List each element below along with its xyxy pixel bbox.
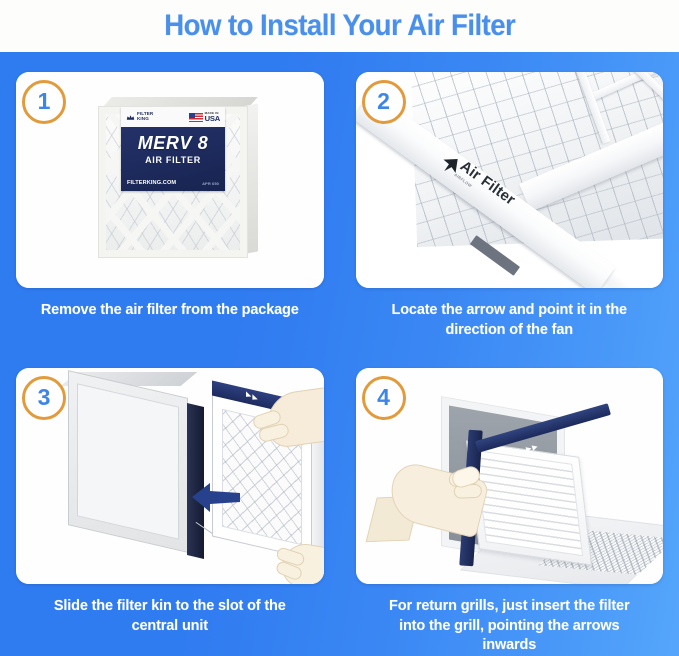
step-2: 2 Air (340, 52, 679, 348)
step-1-number: 1 (38, 90, 51, 113)
step-2-number-badge: 2 (362, 80, 406, 124)
step-4-image-card: 4 ▶▶ (356, 368, 664, 584)
brand-line-2: KING (137, 117, 153, 122)
made-in-usa-mark: MADE IN USA (189, 112, 220, 123)
product-label-header: FILTER KING (121, 107, 225, 127)
steps-grid: 1 (0, 52, 679, 656)
step-3-caption: Slide the filter kin to the slot of the … (35, 597, 305, 636)
unit-panel-inset (77, 384, 179, 541)
crown-icon (126, 113, 135, 122)
step-1-caption: Remove the air filter from the package (35, 301, 305, 321)
filter-body: FILTER KING (98, 98, 256, 258)
central-unit-body (68, 370, 188, 553)
step-2-caption: Locate the arrow and point it in the dir… (374, 301, 644, 340)
infographic-how-to-install-air-filter: How to Install Your Air Filter 1 (0, 0, 679, 656)
usa-flag-icon (189, 113, 203, 122)
direction-arrow-icon (192, 480, 240, 514)
product-label-footer: FILTERKING.COM APR 650 (127, 180, 219, 186)
step-2-caption-line-2: direction of the fan (374, 321, 644, 341)
product-type: AIR FILTER (121, 155, 225, 165)
step-4-caption-line-3: inwards (374, 636, 644, 656)
step-1: 1 (0, 52, 340, 348)
arrow-marking-icon: ▶▶ (246, 390, 259, 404)
step-3-caption-line-1: Slide the filter kin to the slot of the (35, 597, 305, 617)
country-text: USA (205, 115, 220, 123)
step-3: 3 (0, 348, 340, 656)
step-1-image-card: 1 (16, 72, 324, 288)
step-3-image-card: 3 (16, 368, 324, 584)
step-4-caption-line-2: into the grill, pointing the arrows (374, 617, 644, 637)
page-title: How to Install Your Air Filter (164, 9, 515, 43)
website-text: FILTERKING.COM (127, 180, 176, 186)
apr-code: APR 650 (202, 181, 219, 186)
step-1-caption-line-1: Remove the air filter from the package (35, 301, 305, 321)
step-3-number-badge: 3 (22, 376, 66, 420)
step-3-number: 3 (38, 386, 51, 409)
arrow-marking-icon: ▶▶ (525, 443, 539, 454)
step-2-number: 2 (377, 90, 390, 113)
filter-king-logo: FILTER KING (126, 112, 153, 122)
step-1-number-badge: 1 (22, 80, 66, 124)
step-4-number: 4 (377, 386, 390, 409)
step-4-caption: For return grills, just insert the filte… (374, 597, 644, 656)
product-label: FILTER KING (121, 107, 225, 191)
step-4: 4 ▶▶ (340, 348, 679, 656)
merv-rating: MERV 8 (121, 133, 225, 154)
brand-text: FILTER KING (137, 112, 153, 122)
filter-front-face: FILTER KING (98, 106, 248, 258)
step-2-caption-line-1: Locate the arrow and point it in the (374, 301, 644, 321)
header: How to Install Your Air Filter (0, 0, 679, 52)
step-3-caption-line-2: central unit (35, 617, 305, 637)
step-2-image-card: 2 Air (356, 72, 664, 288)
step-4-number-badge: 4 (362, 376, 406, 420)
step-4-caption-line-1: For return grills, just insert the filte… (374, 597, 644, 617)
